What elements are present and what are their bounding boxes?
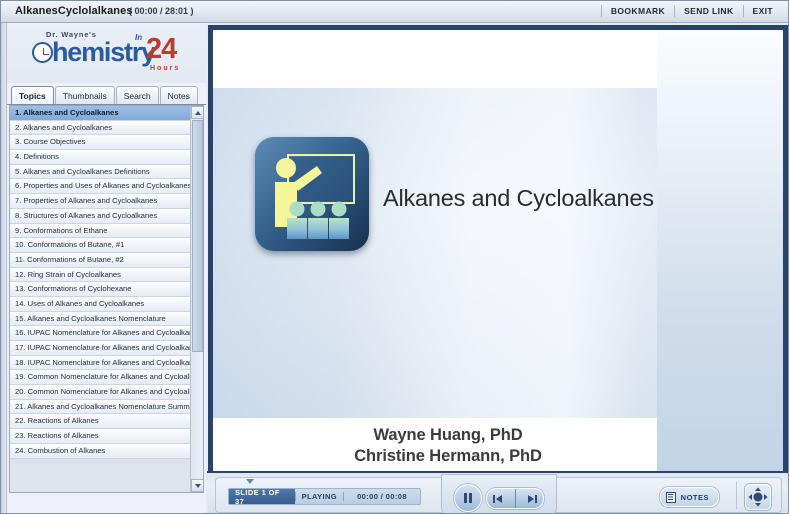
chevron-up-icon [195,111,201,115]
topic-list-item[interactable]: 22. Reactions of Alkanes [10,414,191,429]
chevron-down-icon [195,484,201,488]
chemistry-in-24-hours-logo: Dr. Wayne's hemistry In 24 Hours [24,29,196,79]
playback-control-bar: SLIDE 1 OF 37 PLAYING 00:00 / 00:08 [207,471,789,514]
topic-list-item[interactable]: 9. Conformations of Ethane [10,224,191,239]
exit-button[interactable]: EXIT [743,5,783,17]
topic-list-item[interactable]: 2. Alkanes and Cycloalkanes [10,121,191,136]
topic-list-panel: 1. Alkanes and Cycloalkanes2. Alkanes an… [9,105,204,493]
topic-list-item[interactable]: 18. IUPAC Nomenclature for Alkanes and C… [10,356,191,371]
slide-authors: Wayne Huang, PhD Christine Hermann, PhD [213,425,783,467]
topic-list-item[interactable]: 4. Definitions [10,150,191,165]
scroll-down-button[interactable] [191,479,204,492]
classroom-teacher-icon [255,137,369,251]
transport-controls [441,474,557,514]
topic-list-item[interactable]: 20. Common Nomenclature for Alkanes and … [10,385,191,400]
tab-thumbnails[interactable]: Thumbnails [55,86,115,104]
title-bar: AlkanesCyclolalkanes ( 00:00 / 28:01 ) B… [1,1,789,23]
slide-author-1: Wayne Huang, PhD [213,425,783,446]
notes-button[interactable]: NOTES [660,487,719,507]
fullscreen-button[interactable] [745,484,771,510]
topic-list-item[interactable]: 15. Alkanes and Cycloalkanes Nomenclatur… [10,312,191,327]
slide-title: Alkanes and Cycloalkanes [383,185,654,212]
course-time-range: ( 00:00 / 28:01 ) [129,6,194,16]
previous-icon [496,495,502,503]
slide-stage: Alkanes and Cycloalkanes Wayne Huang, Ph… [207,23,789,514]
scroll-up-button[interactable] [191,106,204,119]
previous-slide-button[interactable] [487,489,516,508]
topic-list-item[interactable]: 7. Properties of Alkanes and Cycloalkane… [10,194,191,209]
slide-right-gradient-column [657,30,783,475]
bookmark-button[interactable]: BOOKMARK [601,5,674,17]
logo-in-text: In [135,33,142,42]
slide-time: 00:00 / 00:08 [344,492,420,501]
topic-list-item[interactable]: 23. Reactions of Alkanes [10,429,191,444]
scrollbar-thumb[interactable] [192,120,203,352]
fullscreen-icon [746,485,770,509]
page-title: AlkanesCyclolalkanes [15,5,133,17]
course-player-window: AlkanesCyclolalkanes ( 00:00 / 28:01 ) B… [0,0,789,514]
slide-status-display[interactable]: SLIDE 1 OF 37 PLAYING 00:00 / 00:08 [228,488,421,505]
tab-notes[interactable]: Notes [160,86,198,104]
topic-list-item[interactable]: 16. IUPAC Nomenclature for Alkanes and C… [10,326,191,341]
next-slide-button[interactable] [515,489,543,508]
slide-menu-caret-icon[interactable] [246,479,254,484]
topic-list-item[interactable]: 5. Alkanes and Cycloalkanes Definitions [10,165,191,180]
classroom-teacher-svg [255,137,369,251]
topic-list-item[interactable]: 1. Alkanes and Cycloalkanes [10,106,191,121]
slide-frame: Alkanes and Cycloalkanes Wayne Huang, Ph… [208,25,788,480]
title-bar-actions: BOOKMARK SEND LINK EXIT [601,5,782,17]
slide-canvas: Alkanes and Cycloalkanes Wayne Huang, Ph… [213,30,783,475]
topic-list-item[interactable]: 6. Properties and Uses of Alkanes and Cy… [10,179,191,194]
notes-document-icon [666,492,676,503]
topic-list-item[interactable]: 14. Uses of Alkanes and Cycloalkanes [10,297,191,312]
control-separator [736,482,737,509]
notes-button-label: NOTES [681,493,709,502]
pause-button[interactable] [454,484,482,512]
topic-list-item[interactable]: 8. Structures of Alkanes and Cycloalkane… [10,209,191,224]
topic-list-item[interactable]: 10. Conformations of Butane, #1 [10,238,191,253]
tab-topics[interactable]: Topics [11,86,54,104]
tab-search[interactable]: Search [116,86,159,104]
topic-list-item[interactable]: 13. Conformations of Cyclohexane [10,282,191,297]
topic-list-item[interactable]: 3. Course Objectives [10,135,191,150]
playback-state: PLAYING [296,492,343,501]
sidebar-tabs: Topics Thumbnails Search Notes [7,83,206,105]
sidebar: Dr. Wayne's hemistry In 24 Hours Topics … [7,23,206,514]
next-bar-icon [535,495,537,503]
control-bar-inner: SLIDE 1 OF 37 PLAYING 00:00 / 00:08 [215,477,782,513]
clock-icon [32,42,53,63]
next-icon [528,495,534,503]
topic-list-item[interactable]: 17. IUPAC Nomenclature for Alkanes and C… [10,341,191,356]
send-link-button[interactable]: SEND LINK [674,5,742,17]
topic-list-item[interactable]: 24. Combustion of Alkanes [10,444,191,459]
topic-list-item[interactable]: 12. Ring Strain of Cycloalkanes [10,268,191,283]
step-buttons [486,488,544,509]
logo-24-text: 24 [146,33,176,66]
brand-logo-area: Dr. Wayne's hemistry In 24 Hours [7,23,206,83]
topic-list-scrollbar[interactable] [190,106,203,492]
topic-list[interactable]: 1. Alkanes and Cycloalkanes2. Alkanes an… [10,106,191,492]
previous-bar-icon [493,495,495,503]
logo-hours-text: Hours [150,65,180,72]
slide-counter: SLIDE 1 OF 37 [229,489,295,504]
slide-author-2: Christine Hermann, PhD [213,446,783,467]
topic-list-item[interactable]: 19. Common Nomenclature for Alkanes and … [10,370,191,385]
topic-list-item[interactable]: 21. Alkanes and Cycloalkanes Nomenclatur… [10,400,191,415]
topic-list-item[interactable]: 11. Conformations of Butane, #2 [10,253,191,268]
